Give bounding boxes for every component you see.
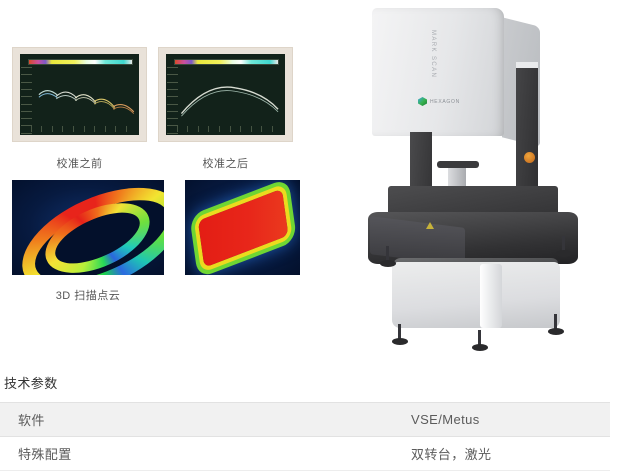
spec-section: 技术参数 软件 VSE/Metus 特殊配置 双转台，激光 <box>0 360 622 471</box>
machine-foot <box>548 328 564 335</box>
x-axis-ticks <box>177 126 283 132</box>
spectrum-colorbar <box>174 59 279 65</box>
machine-hood <box>372 8 504 136</box>
hexagon-logo-icon <box>418 97 427 106</box>
machine-photo[interactable]: MARK SCAN HEXAGON <box>330 0 622 360</box>
plot-curves <box>178 69 282 129</box>
y-axis-ticks <box>167 67 178 130</box>
table-row: 软件 VSE/Metus <box>0 403 610 437</box>
emergency-stop-icon <box>524 152 535 163</box>
after-calibration-image[interactable] <box>158 47 293 142</box>
plot-curves <box>32 69 136 129</box>
machine-foot <box>472 344 488 351</box>
spec-value: VSE/Metus <box>393 403 610 437</box>
instrument-screen <box>166 54 285 135</box>
warning-triangle-icon <box>426 222 434 229</box>
machine-foot <box>556 250 572 257</box>
after-calibration-caption: 校准之后 <box>158 155 293 171</box>
image-gallery: 校准之前 校准之后 3D 扫描点云 <box>0 0 330 320</box>
before-calibration-image[interactable] <box>12 47 147 142</box>
spectrum-colorbar <box>28 59 133 65</box>
point-cloud-ring-image[interactable] <box>12 180 164 275</box>
point-cloud-slab-image[interactable] <box>185 180 300 275</box>
spec-table: 软件 VSE/Metus 特殊配置 双转台，激光 <box>0 402 610 471</box>
hexagon-logo-text: HEXAGON <box>430 99 460 105</box>
before-calibration-caption: 校准之前 <box>12 155 147 171</box>
y-axis-ticks <box>21 67 32 130</box>
machine-base <box>392 262 560 328</box>
hexagon-logo: HEXAGON <box>418 97 460 106</box>
machine-model-label: MARK SCAN <box>418 30 436 90</box>
x-axis-ticks <box>31 126 137 132</box>
slab-heatmap <box>197 188 287 266</box>
spec-key: 软件 <box>0 403 393 437</box>
spec-section-title: 技术参数 <box>4 373 622 392</box>
machine-spindle-cap <box>437 161 479 168</box>
machine-base-edge <box>480 264 502 328</box>
instrument-screen <box>20 54 139 135</box>
machine-foot <box>380 260 396 267</box>
point-cloud-caption: 3D 扫描点云 <box>12 287 164 303</box>
machine-foot <box>392 338 408 345</box>
slab-wrapper <box>197 188 287 266</box>
